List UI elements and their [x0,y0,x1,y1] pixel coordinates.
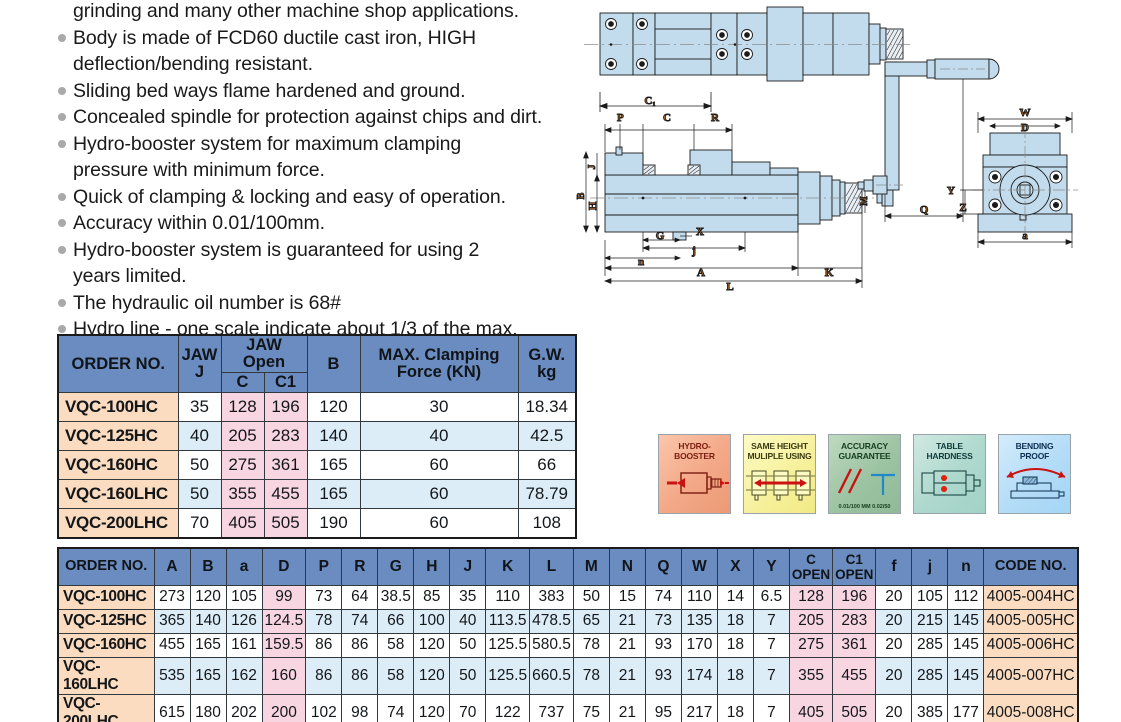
top-view-drawing [584,7,910,81]
feature-item: Quick of clamping & locking and easy of … [58,184,588,211]
cell-code-no: 4005-006HC [984,633,1078,657]
cell-c1-open: 455 [833,657,876,694]
cell-a: 202 [226,694,262,722]
th-M: M [573,548,609,585]
cell-force: 60 [360,480,518,509]
cell-N: 21 [609,633,645,657]
cell-force: 30 [360,393,518,422]
cell-B: 120 [190,585,226,609]
table-row: VQC-100HC 35 128 196 120 30 18.34 [58,393,576,422]
cell-Q: 93 [645,633,681,657]
dim-label-y: Y [947,185,955,197]
cell-Y: 7 [753,657,789,694]
cell-M: 50 [573,585,609,609]
th-f: f [876,548,912,585]
feature-item: years limited. [58,263,588,290]
badge-hydro-booster: HYDRO- BOOSTER [658,434,731,514]
bullet-icon [58,210,73,237]
cell-X: 18 [717,633,753,657]
cell-order-no: VQC-100HC [58,585,154,609]
th-D: D [262,548,306,585]
cell-L: 478.5 [530,609,574,633]
cell-M: 78 [573,657,609,694]
badge-table-hardness: TABLE HARDNESS [913,434,986,514]
cell-code-no: 4005-007HC [984,657,1078,694]
table-row: VQC-160HC 50 275 361 165 60 66 [58,451,576,480]
bending-proof-icon [999,463,1071,505]
cell-L: 660.5 [530,657,574,694]
cell-j: 215 [912,609,948,633]
th-Q: Q [645,548,681,585]
cell-G: 58 [378,633,414,657]
cell-N: 15 [609,585,645,609]
feature-list: grinding and many other machine shop app… [58,0,588,369]
cell-c-open: 128 [789,585,832,609]
cell-D: 200 [262,694,306,722]
badge-title-line1: BENDING [1016,441,1054,451]
th-a: a [226,548,262,585]
table1-header-row-1: ORDER NO. JAW J JAW Open B MAX. Clamping… [58,335,576,373]
cell-j: 35 [178,393,221,422]
cell-R: 64 [342,585,378,609]
badge-title-line2: PROOF [1016,451,1054,461]
badge-title-line2: MULIPLE USING [748,451,812,461]
cell-c: 128 [221,393,264,422]
bullet-icon [58,263,73,290]
cell-c1-open: 361 [833,633,876,657]
th-c1-open-line2: OPEN [835,567,873,582]
bullet-icon [58,237,73,264]
feature-item: grinding and many other machine shop app… [58,0,588,25]
th-gw-unit: kg [522,364,573,381]
cell-L: 383 [530,585,574,609]
dim-label-j: j [691,245,696,257]
cell-a: 162 [226,657,262,694]
cell-f: 20 [876,585,912,609]
cell-order-no: VQC-100HC [58,393,178,422]
cell-order-no: VQC-200LHC [58,509,178,538]
cell-X: 18 [717,694,753,722]
dim-label-c1-top: C₁ [644,95,655,107]
feature-text: Hydro-booster system for maximum clampin… [73,131,588,158]
cell-H: 120 [414,633,450,657]
cell-W: 174 [681,657,717,694]
feature-text: deflection/bending resistant. [73,51,588,78]
cell-c1: 505 [264,509,307,538]
cell-L: 737 [530,694,574,722]
cell-j: 70 [178,509,221,538]
cell-c1-open: 196 [833,585,876,609]
cell-J: 35 [450,585,486,609]
dim-label-n: n [638,256,644,268]
dim-label-z: Z [959,202,966,214]
cell-code-no: 4005-008HC [984,694,1078,722]
dim-label-c: C [663,112,671,124]
feature-text: pressure with minimum force. [73,157,588,184]
feature-badges: HYDRO- BOOSTER SAME HEIGHT MULIPLE USING [658,434,1071,514]
cell-b: 165 [307,480,360,509]
table2-header-row: ORDER NO. A B a D P R G H J K L M N Q W … [58,548,1078,585]
cell-f: 20 [876,609,912,633]
cell-j: 285 [912,657,948,694]
cell-A: 455 [154,633,190,657]
cell-R: 86 [342,657,378,694]
feature-item: deflection/bending resistant. [58,51,588,78]
cell-Q: 93 [645,657,681,694]
cell-R: 86 [342,633,378,657]
bullet-icon [58,0,73,25]
cell-code-no: 4005-004HC [984,585,1078,609]
cell-M: 65 [573,609,609,633]
cell-A: 365 [154,609,190,633]
th-B: B [190,548,226,585]
cell-W: 135 [681,609,717,633]
feature-text: Hydro-booster system is guaranteed for u… [73,237,588,264]
cell-f: 20 [876,694,912,722]
cell-a: 126 [226,609,262,633]
cell-c-open: 355 [789,657,832,694]
feature-item: Body is made of FCD60 ductile cast iron,… [58,25,588,52]
cell-B: 140 [190,609,226,633]
feature-item: Concealed spindle for protection against… [58,104,588,131]
dim-label-p: P [617,112,624,124]
cell-J: 50 [450,657,486,694]
th-jaw-j: JAW J [178,335,221,393]
th-c1-open-line1: C1 [835,552,873,567]
th-A: A [154,548,190,585]
th-c1-open: C1 OPEN [833,548,876,585]
cell-A: 273 [154,585,190,609]
feature-text: Quick of clamping & locking and easy of … [73,184,588,211]
cell-P: 78 [306,609,342,633]
bullet-icon [58,184,73,211]
cell-P: 102 [306,694,342,722]
cell-R: 74 [342,609,378,633]
cell-K: 110 [486,585,530,609]
technical-drawings: C₁ [570,0,1121,300]
feature-text: Sliding bed ways flame hardened and grou… [73,78,588,105]
table-row: VQC-200LHC615180202200102987412070122737… [58,694,1078,722]
cell-B: 165 [190,633,226,657]
bullet-icon [58,78,73,105]
cell-W: 110 [681,585,717,609]
cell-n: 145 [948,609,984,633]
badge-title-line2: BOOSTER [674,451,715,461]
datasheet-page: grinding and many other machine shop app… [0,0,1121,722]
cell-J: 70 [450,694,486,722]
dim-label-k: K [825,267,834,279]
cell-f: 20 [876,657,912,694]
bullet-icon [58,104,73,131]
dim-label-j-vert: J [587,165,598,170]
table-row: VQC-200LHC 70 405 505 190 60 108 [58,509,576,538]
cell-force: 60 [360,509,518,538]
cell-b: 140 [307,422,360,451]
table-row: VQC-160LHC 50 355 455 165 60 78.79 [58,480,576,509]
cell-B: 165 [190,657,226,694]
cell-f: 20 [876,633,912,657]
cell-c: 405 [221,509,264,538]
cell-c1: 361 [264,451,307,480]
th-max-force: MAX. Clamping Force (KN) [360,335,518,393]
table-row: VQC-160LHC53516516216086865812050125.566… [58,657,1078,694]
th-order-no: ORDER NO. [58,335,178,393]
cell-n: 145 [948,657,984,694]
cell-c1: 196 [264,393,307,422]
bullet-icon [58,25,73,52]
cell-a: 105 [226,585,262,609]
cell-K: 113.5 [486,609,530,633]
dim-label-r: R [711,112,720,124]
th-jaw-j-label: J [182,364,218,381]
cell-gw: 66 [518,451,576,480]
cell-c1-open: 505 [833,694,876,722]
th-H: H [414,548,450,585]
cell-J: 50 [450,633,486,657]
cell-c-open: 405 [789,694,832,722]
table-row: VQC-160HC455165161159.586865812050125.55… [58,633,1078,657]
cell-c: 205 [221,422,264,451]
cell-Y: 7 [753,633,789,657]
cell-order-no: VQC-160HC [58,633,154,657]
table-hardness-icon [914,463,986,505]
dim-label-q: Q [920,204,929,216]
cell-c: 275 [221,451,264,480]
feature-item: Hydro-booster system for maximum clampin… [58,131,588,158]
cell-force: 40 [360,422,518,451]
specifications-table-1: ORDER NO. JAW J JAW Open B MAX. Clamping… [57,334,577,539]
cell-H: 120 [414,657,450,694]
dim-label-w: W [1020,107,1031,119]
cell-order-no: VQC-125HC [58,422,178,451]
badge-bending-proof: BENDING PROOF [998,434,1071,514]
table-row: VQC-125HC365140126124.578746610040113.54… [58,609,1078,633]
badge-title-line1: ACCURACY [838,441,890,451]
cell-G: 66 [378,609,414,633]
cell-Q: 74 [645,585,681,609]
cell-R: 98 [342,694,378,722]
feature-text: grinding and many other machine shop app… [73,0,588,25]
feature-text: years limited. [73,263,588,290]
cell-c1: 455 [264,480,307,509]
th-gw: G.W. kg [518,335,576,393]
dim-label-h: H [587,201,599,210]
cell-order-no: VQC-200LHC [58,694,154,722]
cell-b: 120 [307,393,360,422]
cell-order-no: VQC-125HC [58,609,154,633]
th-c-open-line1: C [792,552,830,567]
cell-c1: 283 [264,422,307,451]
drawing-svg: C₁ [570,0,1121,300]
cell-j: 40 [178,422,221,451]
cell-n: 177 [948,694,984,722]
cell-j: 385 [912,694,948,722]
cell-D: 124.5 [262,609,306,633]
cell-X: 18 [717,657,753,694]
cell-Y: 7 [753,694,789,722]
th-code-no: CODE NO. [984,548,1078,585]
bullet-icon [58,290,73,317]
th-order-no: ORDER NO. [58,548,154,585]
th-W: W [681,548,717,585]
cell-N: 21 [609,657,645,694]
cell-H: 85 [414,585,450,609]
feature-text: Body is made of FCD60 ductile cast iron,… [73,25,588,52]
cell-gw: 108 [518,509,576,538]
cell-order-no: VQC-160LHC [58,480,178,509]
end-view-drawing [973,126,1078,234]
badge-subtext: 0.01/100 MM 0.02/50 [829,504,900,510]
dim-label-b: B [576,192,587,199]
dim-label-g: G [656,230,665,242]
th-c: C [221,373,264,393]
dim-label-a-end: a [1022,230,1028,242]
cell-n: 112 [948,585,984,609]
cell-G: 58 [378,657,414,694]
cell-P: 86 [306,657,342,694]
cell-W: 217 [681,694,717,722]
th-jaw-label: JAW [182,347,218,364]
cell-j: 50 [178,451,221,480]
cell-gw: 18.34 [518,393,576,422]
cell-G: 38.5 [378,585,414,609]
cell-N: 21 [609,609,645,633]
badge-title-line2: GUARANTEE [838,451,890,461]
badge-title-line1: SAME HEIGHT [748,441,812,451]
dim-label-d: D [1021,122,1029,134]
badge-title-line1: HYDRO- [674,441,715,451]
table-row: VQC-100HC27312010599736438.5853511038350… [58,585,1078,609]
side-view-drawing [590,147,893,240]
hydro-booster-icon [659,463,731,505]
feature-text: Concealed spindle for protection against… [73,104,588,131]
cell-Y: 6.5 [753,585,789,609]
cell-n: 145 [948,633,984,657]
feature-item: Accuracy within 0.01/100mm. [58,210,588,237]
bullet-icon [58,51,73,78]
feature-item: pressure with minimum force. [58,157,588,184]
cell-H: 120 [414,694,450,722]
cell-j: 50 [178,480,221,509]
cell-order-no: VQC-160LHC [58,657,154,694]
cell-c1-open: 283 [833,609,876,633]
cell-j: 285 [912,633,948,657]
cell-A: 615 [154,694,190,722]
cell-L: 580.5 [530,633,574,657]
feature-item: The hydraulic oil number is 68# [58,290,588,317]
cell-N: 21 [609,694,645,722]
th-c-open-line2: OPEN [792,567,830,582]
badge-same-height: SAME HEIGHT MULIPLE USING [743,434,816,514]
cell-K: 125.5 [486,657,530,694]
th-gw-label: G.W. [522,347,573,364]
dim-label-x: X [696,226,704,238]
th-n: n [948,548,984,585]
th-X: X [717,548,753,585]
th-jaw-open: JAW Open [221,335,307,373]
cell-J: 40 [450,609,486,633]
th-J: J [450,548,486,585]
th-L: L [530,548,574,585]
cell-B: 180 [190,694,226,722]
feature-item: Hydro-booster system is guaranteed for u… [58,237,588,264]
accuracy-guarantee-icon [829,463,901,505]
cell-b: 165 [307,451,360,480]
th-Y: Y [753,548,789,585]
dimensions-table-2: ORDER NO. A B a D P R G H J K L M N Q W … [57,547,1079,722]
cell-Q: 95 [645,694,681,722]
bullet-icon [58,157,73,184]
th-K: K [486,548,530,585]
th-G: G [378,548,414,585]
dim-label-a: A [697,267,705,279]
bullet-icon [58,131,73,158]
th-b: B [307,335,360,393]
table-row: VQC-125HC 40 205 283 140 40 42.5 [58,422,576,451]
cell-M: 78 [573,633,609,657]
cell-M: 75 [573,694,609,722]
cell-K: 122 [486,694,530,722]
dim-label-l: L [726,281,733,293]
cell-A: 535 [154,657,190,694]
cell-gw: 42.5 [518,422,576,451]
th-c-open: C OPEN [789,548,832,585]
cell-c-open: 205 [789,609,832,633]
cell-c-open: 275 [789,633,832,657]
cell-order-no: VQC-160HC [58,451,178,480]
cell-P: 73 [306,585,342,609]
cell-gw: 78.79 [518,480,576,509]
th-P: P [306,548,342,585]
th-c1: C1 [264,373,307,393]
cell-X: 18 [717,609,753,633]
badge-accuracy-guarantee: ACCURACY GUARANTEE 0.01/100 MM 0.02/50 [828,434,901,514]
dim-label-m: M [859,196,870,206]
cell-D: 159.5 [262,633,306,657]
cell-D: 99 [262,585,306,609]
cell-G: 74 [378,694,414,722]
feature-text: The hydraulic oil number is 68# [73,290,588,317]
cell-H: 100 [414,609,450,633]
th-N: N [609,548,645,585]
badge-title-line1: TABLE [926,441,972,451]
cell-a: 161 [226,633,262,657]
badge-title-line2: HARDNESS [926,451,972,461]
cell-D: 160 [262,657,306,694]
th-R: R [342,548,378,585]
cell-force: 60 [360,451,518,480]
cell-code-no: 4005-005HC [984,609,1078,633]
th-j: j [912,548,948,585]
cell-Q: 73 [645,609,681,633]
feature-item: Sliding bed ways flame hardened and grou… [58,78,588,105]
feature-text: Accuracy within 0.01/100mm. [73,210,588,237]
cell-W: 170 [681,633,717,657]
cell-P: 86 [306,633,342,657]
same-height-multiple-using-icon [744,463,816,505]
cell-Y: 7 [753,609,789,633]
cell-c: 355 [221,480,264,509]
cell-b: 190 [307,509,360,538]
cell-K: 125.5 [486,633,530,657]
cell-X: 14 [717,585,753,609]
cell-j: 105 [912,585,948,609]
